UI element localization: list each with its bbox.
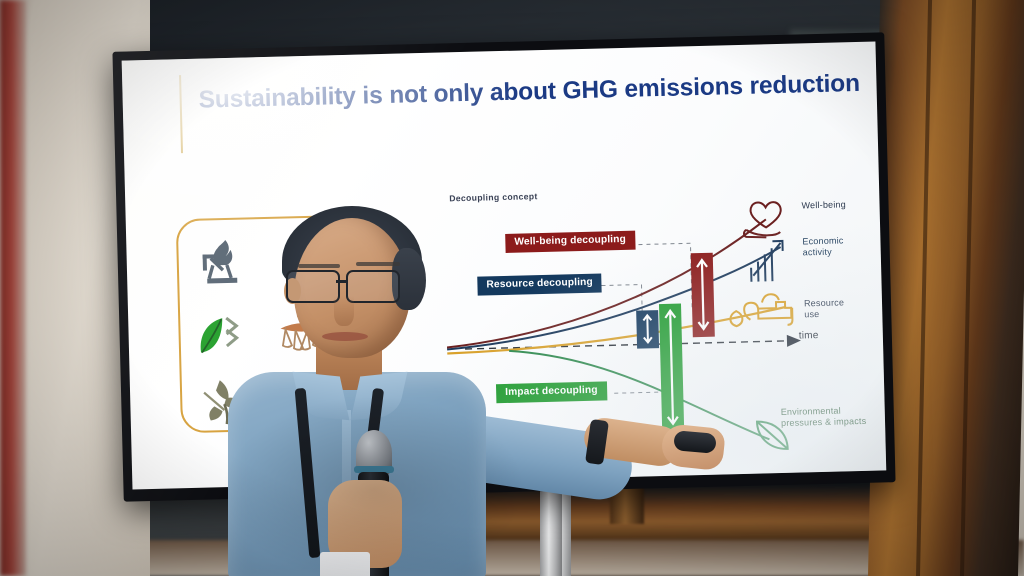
door-frame — [868, 0, 1024, 576]
eyebrow-right — [356, 262, 400, 266]
wall-accent-strip — [0, 0, 26, 576]
lens-left — [286, 270, 340, 303]
nose — [334, 296, 354, 326]
door-groove — [960, 0, 977, 576]
lens-right — [346, 270, 400, 303]
eyebrow-left — [298, 264, 340, 268]
mouth — [322, 332, 368, 341]
glasses-bridge — [336, 280, 346, 283]
presenter-remote — [673, 430, 717, 454]
presentation-scene: Sustainability is not only about GHG emi… — [0, 0, 1024, 576]
door-groove — [916, 0, 933, 576]
lanyard-badge-card — [320, 552, 370, 576]
presenter — [206, 204, 626, 576]
